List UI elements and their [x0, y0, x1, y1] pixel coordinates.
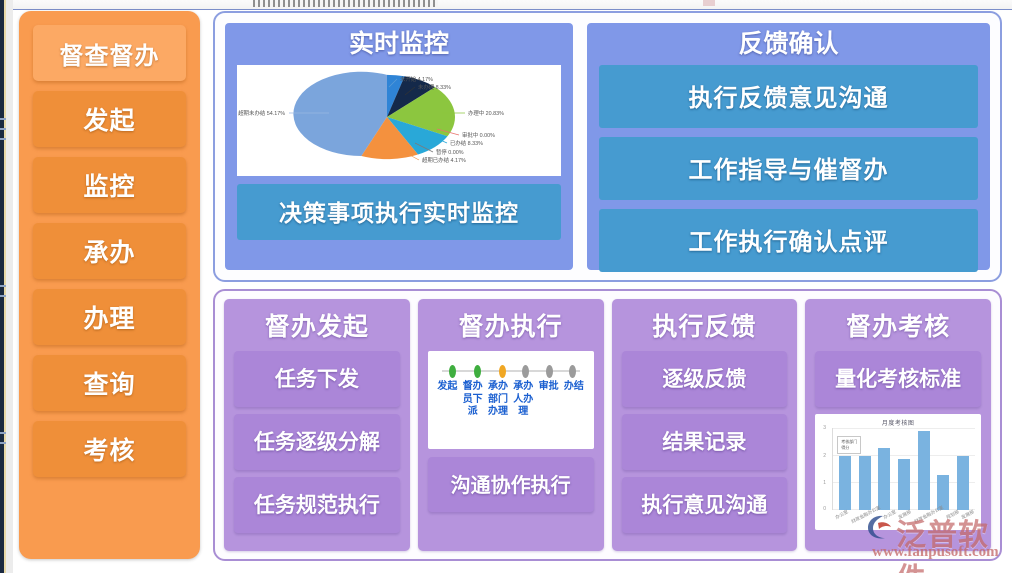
- timeline-dot-banjie[interactable]: [569, 365, 576, 378]
- chip-goutong-xiezuo-zhixing[interactable]: 沟通协作执行: [428, 457, 594, 512]
- timeline-dot-shenpi[interactable]: [546, 365, 553, 378]
- sidebar-item-banli[interactable]: 办理: [33, 289, 186, 345]
- column-title-duban-kaohe: 督办考核: [815, 307, 981, 343]
- window-edge-strip: [0, 0, 13, 573]
- pie-label-yibanjie: 已办结 8.33%: [450, 139, 483, 147]
- app-root: 督查督办 发起 监控 承办 办理 查询 考核 实时监控: [0, 0, 1012, 573]
- bar-xlabel: 发展部: [897, 509, 912, 521]
- sidebar-item-duchadubann[interactable]: 督查督办: [33, 25, 186, 81]
- timeline-label-faqi: 发起: [435, 381, 460, 419]
- chip-zhixing-yijian-goutong[interactable]: 执行意见沟通: [622, 477, 788, 533]
- bar-chart-xlabels: 办公室 财政金融办公室 办公室 发展部 财政金融办公室 规划部 发展部: [834, 512, 975, 518]
- bar-ytick-0: 0: [823, 506, 826, 512]
- column-duban-faqi: 督办发起 任务下发 任务逐级分解 任务规范执行: [224, 299, 410, 551]
- timeline-dot-chengbanren[interactable]: [522, 365, 529, 378]
- bar-xlabel: 发展部: [960, 509, 975, 521]
- sidebar: 督查督办 发起 监控 承办 办理 查询 考核: [19, 11, 200, 559]
- chip-zhuji-fankui[interactable]: 逐级反馈: [622, 351, 788, 407]
- pie-chart-svg: 超期未办结 54.17% 未开始 4.17% 未办理 8.33% 办理中 20.…: [237, 65, 561, 176]
- timeline-labels: 发起 督办员下派 承办部门办理 承办人办理 审批 办结: [434, 381, 588, 419]
- edge-tick: [0, 118, 6, 120]
- column-duban-zhixing: 督办执行 发起 督办员下派 承办部门办理 承办人办理 审批: [418, 299, 604, 551]
- bar-ytick-3: 3: [823, 425, 826, 431]
- sidebar-item-faqi[interactable]: 发起: [33, 91, 186, 147]
- column-duban-kaohe: 督办考核 量化考核标准 月度考核图 3 2 1 0: [805, 299, 991, 551]
- cropped-titlebar-accent: [703, 0, 715, 6]
- bar-xlabel: 办公室: [834, 509, 849, 521]
- timeline-label-chengbanren-banli: 承办人办理: [511, 381, 536, 419]
- top-panel: 实时监控: [213, 11, 1002, 282]
- edge-tick: [0, 285, 6, 287]
- sidebar-item-jiankong[interactable]: 监控: [33, 157, 186, 213]
- bar-chart-tooltip: 考核部门得分: [837, 436, 861, 454]
- bar-item[interactable]: [918, 431, 930, 510]
- edge-tick: [0, 138, 6, 140]
- bar-ytick-1: 1: [823, 480, 826, 486]
- pie-label-chaoqiweibanjie: 超期未办结 54.17%: [238, 109, 285, 117]
- timeline-dot-dubanyuan[interactable]: [474, 365, 481, 378]
- bar-ytick-2: 2: [823, 453, 826, 459]
- edge-tick: [0, 295, 6, 297]
- timeline-label-chengban-bumen-banli: 承办部门办理: [485, 381, 510, 419]
- pie-chart: 超期未办结 54.17% 未开始 4.17% 未办理 8.33% 办理中 20.…: [237, 65, 561, 176]
- pie-label-weibanli: 未办理 8.33%: [418, 83, 451, 91]
- chip-lianghua-kaohe-biaozhun[interactable]: 量化考核标准: [815, 351, 981, 407]
- sidebar-item-chengban[interactable]: 承办: [33, 223, 186, 279]
- workflow-timeline-widget: 发起 督办员下派 承办部门办理 承办人办理 审批 办结: [428, 351, 594, 449]
- cropped-titlebar-text: [253, 0, 438, 7]
- bar-item[interactable]: [839, 456, 851, 510]
- bar-xlabel: 规划部: [945, 509, 960, 521]
- feedback-confirm-title: 反馈确认: [599, 30, 978, 59]
- pie-label-shenpizhong: 审批中 0.00%: [462, 131, 495, 139]
- pie-label-zanting: 暂停 0.00%: [436, 148, 464, 156]
- bar-chart-plot: 3 2 1 0 考核部门得分: [832, 428, 975, 510]
- timeline-dot-chengban-bumen[interactable]: [499, 365, 506, 378]
- timeline-rail-row: [438, 363, 584, 379]
- chip-renwu-guifan-zhixing[interactable]: 任务规范执行: [234, 477, 400, 533]
- column-title-zhixing-fankui: 执行反馈: [622, 307, 788, 343]
- column-title-duban-zhixing: 督办执行: [428, 307, 594, 343]
- bar-item[interactable]: [878, 448, 890, 510]
- timeline-dot-faqi[interactable]: [449, 365, 456, 378]
- chip-jieguo-jilu[interactable]: 结果记录: [622, 414, 788, 470]
- sidebar-item-kaohe[interactable]: 考核: [33, 421, 186, 477]
- bar-item[interactable]: [898, 459, 910, 510]
- bar-chart-title: 月度考核图: [821, 418, 975, 427]
- bar-item[interactable]: [859, 456, 871, 510]
- pie-label-weikaishi: 未开始 4.17%: [400, 75, 433, 83]
- edge-gray-band: [6, 0, 13, 573]
- bottom-panel: 督办发起 任务下发 任务逐级分解 任务规范执行 督办执行 发起: [213, 289, 1002, 561]
- timeline-rail: [442, 370, 580, 372]
- bar-xlabel: 办公室: [882, 509, 897, 521]
- chip-renwu-xiafa[interactable]: 任务下发: [234, 351, 400, 407]
- pie-label-chaoqiyibanjie: 超期已办结 4.17%: [422, 156, 466, 164]
- edge-tick: [0, 442, 6, 444]
- feedback-confirm-card: 反馈确认 执行反馈意见沟通 工作指导与催督办 工作执行确认点评: [587, 23, 990, 270]
- assessment-bar-chart: 月度考核图 3 2 1 0: [815, 414, 981, 530]
- chip-renwu-zhuji-fenjie[interactable]: 任务逐级分解: [234, 414, 400, 470]
- sidebar-item-chaxun[interactable]: 查询: [33, 355, 186, 411]
- monitor-band-button[interactable]: 决策事项执行实时监控: [237, 184, 561, 240]
- edge-tick: [0, 128, 6, 130]
- realtime-monitor-title: 实时监控: [237, 30, 561, 59]
- window-top-chrome: [13, 0, 1012, 10]
- feedback-button-gongzuo-queren[interactable]: 工作执行确认点评: [599, 209, 978, 272]
- edge-tick: [0, 432, 6, 434]
- timeline-label-shenpi: 审批: [536, 381, 561, 419]
- realtime-monitor-card: 实时监控: [225, 23, 573, 270]
- timeline-label-banjie: 办结: [561, 381, 586, 419]
- column-title-duban-faqi: 督办发起: [234, 307, 400, 343]
- timeline-label-dubanyuan-xiapai: 督办员下派: [460, 381, 485, 419]
- feedback-button-zhixing-fankui[interactable]: 执行反馈意见沟通: [599, 65, 978, 128]
- pie-label-banlizhong: 办理中 20.83%: [468, 109, 504, 117]
- column-zhixing-fankui: 执行反馈 逐级反馈 结果记录 执行意见沟通: [612, 299, 798, 551]
- chrome-divider: [13, 9, 1012, 10]
- bar-item[interactable]: [957, 456, 969, 510]
- feedback-button-gongzuo-zhidao[interactable]: 工作指导与催督办: [599, 137, 978, 200]
